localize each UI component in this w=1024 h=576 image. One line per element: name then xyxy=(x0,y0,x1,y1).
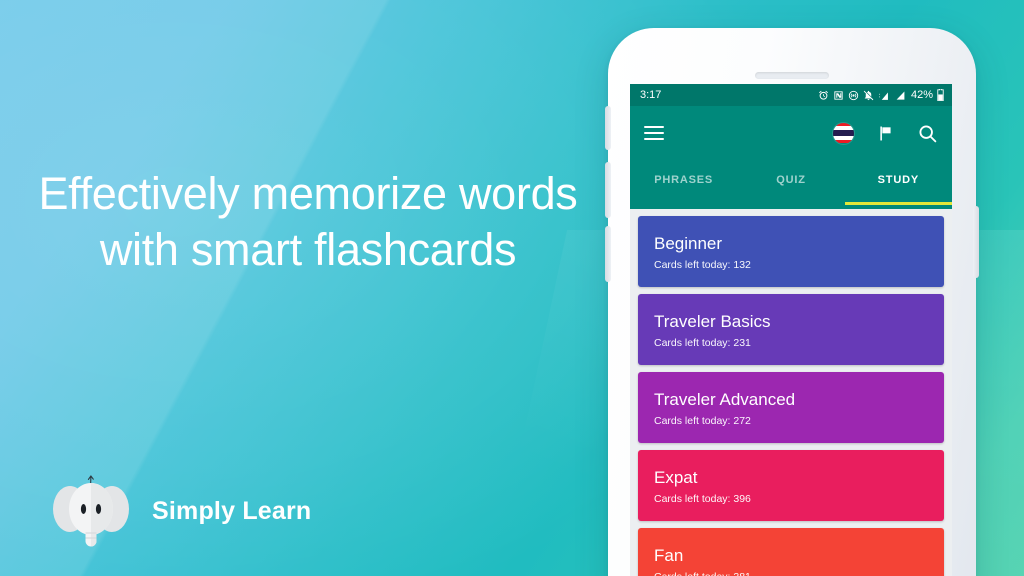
search-icon[interactable] xyxy=(917,123,938,144)
status-bar-icons: 42% xyxy=(818,89,944,101)
deck-card[interactable]: Expat Cards left today: 396 xyxy=(638,450,944,521)
page-headline: Effectively memorize words with smart fl… xyxy=(22,166,594,278)
deck-subtitle: Cards left today: 272 xyxy=(654,415,928,427)
deck-title: Beginner xyxy=(654,233,928,254)
nfc-icon xyxy=(833,90,844,101)
tab-study-label: STUDY xyxy=(878,174,919,186)
status-bar: 3:17 xyxy=(630,84,952,106)
thai-flag-icon[interactable] xyxy=(833,123,854,144)
deck-subtitle: Cards left today: 396 xyxy=(654,493,928,505)
tab-phrases[interactable]: PHRASES xyxy=(630,160,737,200)
deck-card[interactable]: Fan Cards left today: 381 xyxy=(638,528,944,576)
phone-power-button[interactable] xyxy=(973,206,979,278)
app-bar: PHRASES QUIZ STUDY xyxy=(630,106,952,209)
deck-title: Fan xyxy=(654,545,928,566)
cast-icon xyxy=(848,90,859,101)
phone-earpiece-speaker xyxy=(755,72,829,79)
cellular-signal-icon xyxy=(895,90,906,101)
app-bar-top-row xyxy=(630,106,952,160)
app-bar-actions xyxy=(833,123,938,144)
hamburger-menu-icon[interactable] xyxy=(644,126,664,140)
study-deck-list: Beginner Cards left today: 132 Traveler … xyxy=(630,209,952,576)
deck-subtitle: Cards left today: 231 xyxy=(654,337,928,349)
elephant-icon xyxy=(52,473,130,549)
tab-quiz-label: QUIZ xyxy=(776,174,805,186)
deck-card[interactable]: Traveler Basics Cards left today: 231 xyxy=(638,294,944,365)
status-bar-time: 3:17 xyxy=(640,89,661,101)
deck-subtitle: Cards left today: 132 xyxy=(654,259,928,271)
brand-logo: Simply Learn xyxy=(52,473,311,549)
phone-button-left-1[interactable] xyxy=(605,106,611,150)
deck-title: Expat xyxy=(654,467,928,488)
battery-percent-label: 42% xyxy=(911,89,933,101)
tab-study[interactable]: STUDY xyxy=(845,160,952,200)
brand-name: Simply Learn xyxy=(152,497,311,526)
phone-button-left-3[interactable] xyxy=(605,226,611,282)
deck-card[interactable]: Traveler Advanced Cards left today: 272 xyxy=(638,372,944,443)
tab-quiz[interactable]: QUIZ xyxy=(737,160,844,200)
phone-mockup: 3:17 xyxy=(608,28,976,576)
bell-off-icon xyxy=(863,90,874,101)
tab-bar: PHRASES QUIZ STUDY xyxy=(630,160,952,200)
deck-subtitle: Cards left today: 381 xyxy=(654,571,928,576)
phone-button-left-2[interactable] xyxy=(605,162,611,218)
deck-title: Traveler Basics xyxy=(654,311,928,332)
wifi-icon xyxy=(878,90,891,101)
battery-icon xyxy=(937,89,944,101)
phone-screen: 3:17 xyxy=(630,84,952,576)
deck-card[interactable]: Beginner Cards left today: 132 xyxy=(638,216,944,287)
tab-phrases-label: PHRASES xyxy=(654,174,713,186)
flag-icon[interactable] xyxy=(876,124,895,143)
alarm-icon xyxy=(818,90,829,101)
deck-title: Traveler Advanced xyxy=(654,389,928,410)
